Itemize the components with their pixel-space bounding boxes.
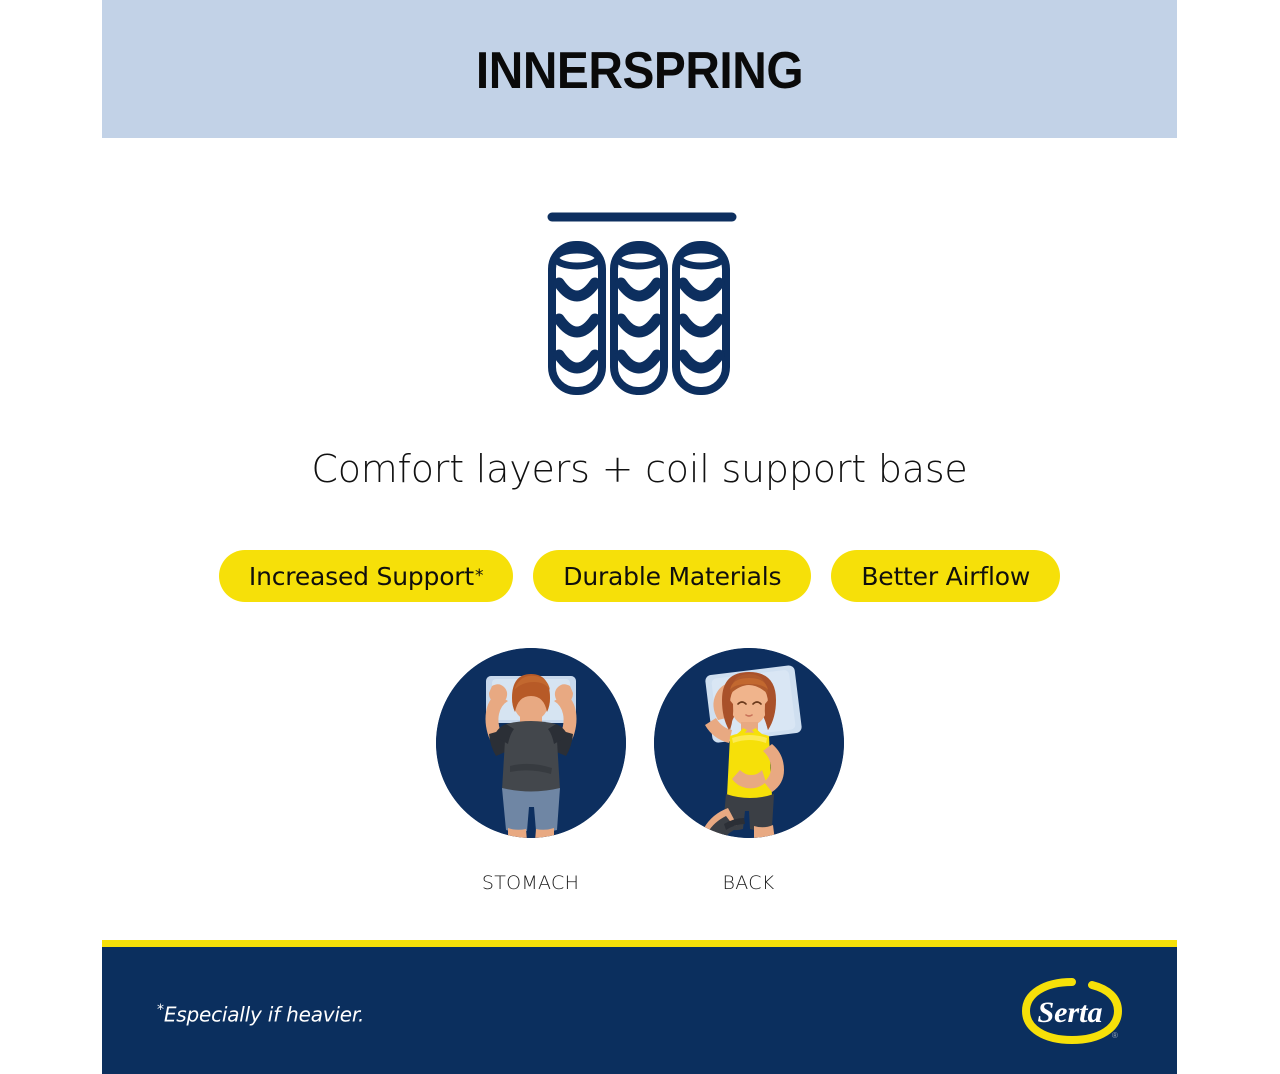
feature-pill-increased-support[interactable]: Increased Support* — [219, 550, 513, 602]
innerspring-info-card: INNERSPRING — [102, 0, 1177, 1074]
page-title: INNERSPRING — [145, 40, 1134, 102]
coil-springs-icon — [539, 200, 739, 400]
sleep-position-stomach[interactable]: STOMACH — [436, 648, 626, 894]
sleep-position-caption: STOMACH — [482, 872, 579, 894]
footer-accent-stripe — [102, 940, 1177, 947]
feature-pill-label: Better Airflow — [861, 562, 1030, 591]
footnote-marker: * — [157, 1002, 164, 1018]
feature-pill-row: Increased Support* Durable Materials Bet… — [102, 550, 1177, 602]
tagline: Comfort layers + coil support base — [102, 443, 1177, 495]
feature-pill-label: Increased Support — [249, 562, 474, 591]
sleep-position-back[interactable]: BACK — [654, 648, 844, 894]
feature-pill-label: Durable Materials — [563, 562, 781, 591]
back-sleeper-illustration — [654, 648, 844, 838]
sleep-positions-row: STOMACH — [102, 648, 1177, 894]
feature-pill-durable-materials[interactable]: Durable Materials — [533, 550, 811, 602]
svg-text:®: ® — [1112, 1031, 1118, 1040]
footnote-marker: * — [475, 568, 483, 585]
footer-bar: *Especially if heavier. Serta ® — [102, 940, 1177, 1074]
stomach-sleeper-illustration — [436, 648, 626, 838]
svg-text:Serta: Serta — [1037, 996, 1102, 1029]
serta-logo[interactable]: Serta ® — [1020, 978, 1125, 1044]
footnote-text: Especially if heavier. — [164, 1003, 364, 1027]
feature-pill-better-airflow[interactable]: Better Airflow — [831, 550, 1060, 602]
sleep-position-caption: BACK — [722, 872, 774, 894]
footnote: *Especially if heavier. — [157, 1002, 364, 1027]
